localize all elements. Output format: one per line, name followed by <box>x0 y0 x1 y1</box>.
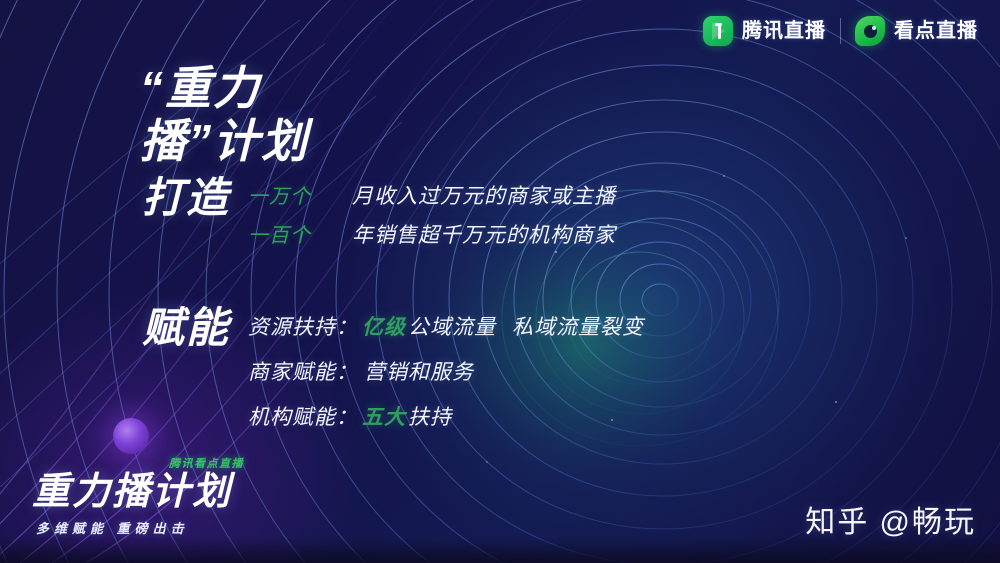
build-row: 一百个 年销售超千万元的机构商家 <box>248 219 616 249</box>
enable-row-highlight: 亿级 <box>362 311 406 341</box>
campaign-lockup: 腾讯看点直播 重力播计划 多维赋能 重磅出击 <box>32 455 252 537</box>
build-row-text: 月收入过万元的商家或主播 <box>352 180 616 210</box>
section-build: 打造 一万个 月收入过万元的商家或主播 一百个 年销售超千万元的机构商家 <box>142 172 616 258</box>
lockup-eyebrow: 腾讯看点直播 <box>32 455 252 471</box>
brand-tencent-live-label: 腾讯直播 <box>742 21 826 41</box>
enable-row-value: 营销和服务 <box>364 356 474 386</box>
page-title: “重力播”计划 <box>140 62 370 168</box>
enable-row-value: 扶持 <box>408 401 452 431</box>
enable-row-key: 资源扶持： <box>248 311 358 341</box>
brand-divider <box>840 18 841 44</box>
enable-row-key: 商家赋能： <box>248 356 358 386</box>
build-row-count: 一百个 <box>248 219 326 248</box>
build-row: 一万个 月收入过万元的商家或主播 <box>248 180 616 210</box>
enable-row-key: 机构赋能： <box>248 401 358 431</box>
lockup-subtitle: 多维赋能 重磅出击 <box>32 518 252 537</box>
enable-row-value-secondary: 私域流量裂变 <box>512 311 644 341</box>
section-enable: 赋能 资源扶持： 亿级 公域流量 私域流量裂变 商家赋能： 营销和服务 机构赋能… <box>142 302 644 446</box>
build-row-text: 年销售超千万元的机构商家 <box>352 219 616 249</box>
lockup-title: 重力播计划 <box>32 473 252 511</box>
slide-canvas: 腾讯直播 看点直播 “重力播”计划 打造 一万个 月收入过万元的商家或主播 一百… <box>0 0 1000 563</box>
build-row-count: 一万个 <box>248 180 326 209</box>
brand-bar: 腾讯直播 看点直播 <box>703 16 978 46</box>
enable-row: 资源扶持： 亿级 公域流量 私域流量裂变 <box>248 311 644 341</box>
kandian-eye-logo-icon <box>855 16 885 46</box>
enable-row: 商家赋能： 营销和服务 <box>248 356 644 386</box>
section-enable-label: 赋能 <box>142 302 230 355</box>
brand-kandian-live-label: 看点直播 <box>894 21 978 41</box>
enable-row-value: 公域流量 <box>408 311 496 341</box>
brand-tencent-live[interactable]: 腾讯直播 <box>703 16 826 46</box>
section-enable-rows: 资源扶持： 亿级 公域流量 私域流量裂变 商家赋能： 营销和服务 机构赋能： 五… <box>248 302 644 446</box>
section-build-rows: 一万个 月收入过万元的商家或主播 一百个 年销售超千万元的机构商家 <box>248 172 616 258</box>
section-build-label: 打造 <box>142 172 230 225</box>
watermark: 知乎 @畅玩 <box>805 497 976 541</box>
enable-row-highlight: 五大 <box>362 401 406 431</box>
brand-kandian-live[interactable]: 看点直播 <box>855 16 978 46</box>
tencent-play-logo-icon <box>703 16 733 46</box>
enable-row: 机构赋能： 五大 扶持 <box>248 401 644 431</box>
